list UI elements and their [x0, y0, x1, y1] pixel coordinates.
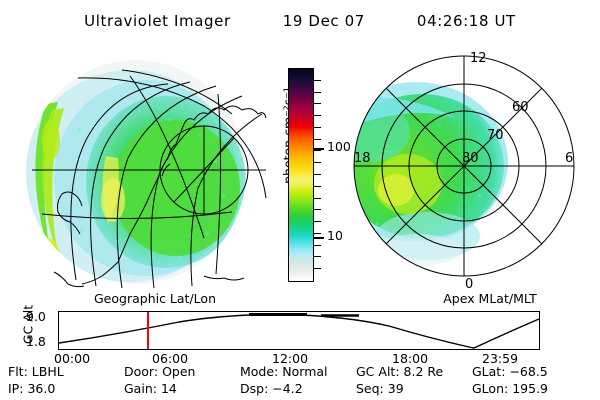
status-field-label: GC Alt:: [356, 364, 404, 379]
mlat-label-70: 70: [487, 128, 504, 143]
status-field-value: −4.2: [272, 381, 302, 396]
status-field: Dsp:−4.2: [240, 380, 356, 397]
status-field-value: 8.2 Re: [404, 364, 444, 379]
mlt-label-left: 18: [354, 151, 371, 166]
status-field: GLon:195.9: [472, 380, 588, 397]
mlat-mlt-grid: [354, 56, 574, 276]
status-field-label: Mode:: [240, 364, 282, 379]
colorbar-major-tick: [314, 148, 324, 150]
mlat-label-80: 80: [462, 151, 479, 166]
status-field-label: Seq:: [356, 381, 388, 396]
mlat-label-60: 60: [512, 100, 529, 115]
status-field: GLat:−68.5: [472, 363, 588, 380]
status-field-label: Flt:: [8, 364, 32, 379]
colorbar-gradient: [289, 69, 313, 281]
colorbar-scale[interactable]: [288, 68, 314, 282]
orbit-y-tick-high: 9.0: [26, 309, 46, 324]
colorbar-minor-tick: [314, 233, 321, 234]
status-field: Mode:Normal: [240, 363, 356, 380]
status-field-label: Dsp:: [240, 381, 272, 396]
orbit-y-tick-low: 1.8: [26, 334, 46, 349]
colorbar-minor-tick: [314, 80, 321, 81]
polar-plot: 12 18 6 0 60 70 80: [352, 44, 588, 294]
status-bar: Flt:LBHLDoor:OpenMode:NormalGC Alt:8.2 R…: [0, 363, 600, 397]
mlt-panel-caption: Apex MLat/MLT: [395, 291, 585, 306]
colorbar-group: photon cm⁻²s⁻¹ 10010: [266, 62, 354, 288]
status-field-label: Gain:: [124, 381, 161, 396]
status-field-value: 14: [161, 381, 177, 396]
status-row: Flt:LBHLDoor:OpenMode:NormalGC Alt:8.2 R…: [8, 363, 588, 380]
header-bar: Ultraviolet Imager 19 Dec 07 04:26:18 UT: [0, 8, 600, 34]
colorbar-minor-tick: [314, 139, 321, 140]
status-field-label: Door:: [124, 364, 162, 379]
colorbar-minor-tick: [314, 127, 321, 128]
observation-date: 19 Dec 07: [283, 12, 365, 30]
aurora-emission-field: [24, 60, 246, 284]
colorbar-minor-tick: [314, 162, 321, 163]
colorbar-minor-tick: [314, 150, 321, 151]
status-field: Door:Open: [124, 363, 240, 380]
status-field-label: GLat:: [472, 364, 509, 379]
apex-mlat-mlt-panel[interactable]: 12 18 6 0 60 70 80: [352, 44, 588, 294]
mlt-label-top: 12: [470, 51, 487, 66]
status-field-value: 195.9: [512, 381, 548, 396]
status-table: Flt:LBHLDoor:OpenMode:NormalGC Alt:8.2 R…: [8, 363, 588, 397]
status-field-value: LBHL: [32, 364, 64, 379]
colorbar-minor-tick: [314, 221, 321, 222]
colorbar-minor-tick: [314, 268, 321, 269]
colorbar-minor-tick: [314, 92, 321, 93]
geographic-plot: [18, 48, 270, 294]
colorbar-minor-tick: [314, 174, 321, 175]
colorbar-minor-tick: [314, 245, 321, 246]
status-field-value: Open: [162, 364, 195, 379]
colorbar-major-tick: [314, 237, 324, 239]
mlt-label-bottom: 0: [465, 277, 473, 292]
mlt-label-right: 6: [565, 151, 573, 166]
geographic-image-panel[interactable]: [18, 48, 270, 294]
status-field-label: IP:: [8, 381, 27, 396]
colorbar-minor-tick: [314, 256, 321, 257]
colorbar-tick-label: 100: [327, 141, 351, 154]
geographic-panel-caption: Geographic Lat/Lon: [60, 291, 250, 306]
status-row: IP:36.0Gain:14Dsp:−4.2Seq:39GLon:195.9: [8, 380, 588, 397]
observation-time: 04:26:18 UT: [417, 12, 516, 30]
orbit-altitude-curve: [59, 312, 539, 349]
status-field-value: 39: [388, 381, 404, 396]
status-field-value: −68.5: [509, 364, 547, 379]
colorbar-minor-tick: [314, 103, 321, 104]
orbit-altitude-group: GC Alt 9.0 1.8 00:0006:0012:0018:0023:59: [0, 305, 600, 355]
status-field: Flt:LBHL: [8, 363, 124, 380]
status-field: Gain:14: [124, 380, 240, 397]
colorbar-minor-tick: [314, 209, 321, 210]
colorbar-minor-tick: [314, 186, 321, 187]
status-field: Seq:39: [356, 380, 472, 397]
colorbar-minor-tick: [314, 198, 321, 199]
status-field-value: 36.0: [27, 381, 55, 396]
status-field-label: GLon:: [472, 381, 512, 396]
colorbar-tick-label: 10: [327, 230, 343, 243]
orbit-altitude-plot[interactable]: [58, 311, 540, 350]
colorbar-minor-tick: [314, 115, 321, 116]
status-field: IP:36.0: [8, 380, 124, 397]
instrument-title: Ultraviolet Imager: [84, 12, 231, 30]
status-field: GC Alt:8.2 Re: [356, 363, 472, 380]
status-field-value: Normal: [282, 364, 327, 379]
